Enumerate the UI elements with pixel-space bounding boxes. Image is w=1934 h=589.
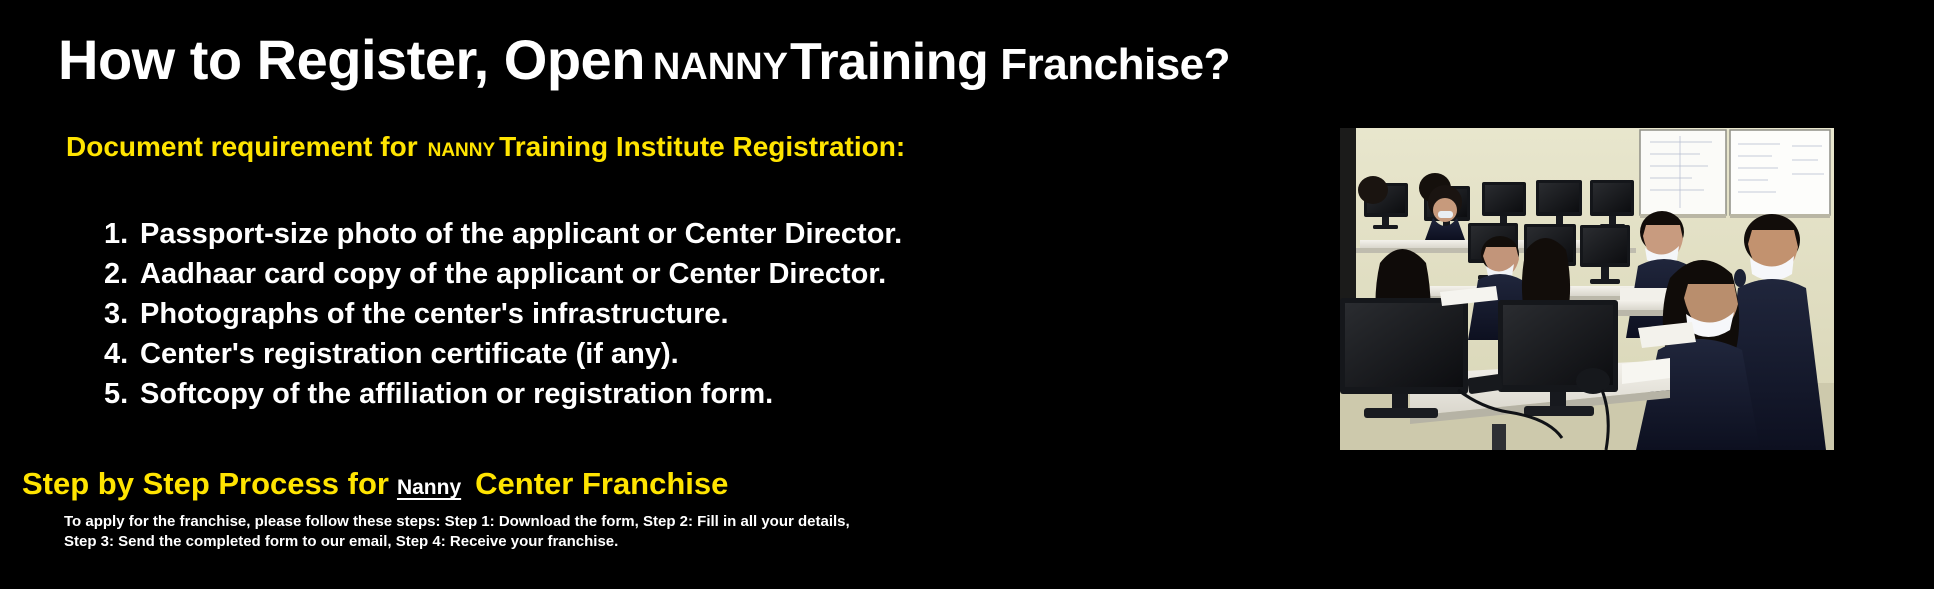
list-item-label: Photographs of the center's infrastructu… — [140, 298, 729, 330]
step-process-paragraph: To apply for the franchise, please follo… — [64, 512, 854, 552]
list-item: 3.Photographs of the center's infrastruc… — [104, 294, 902, 334]
list-item: 1.Passport-size photo of the applicant o… — [104, 214, 902, 254]
step-heading-part2: Center Franchise — [467, 466, 728, 501]
list-item-label: Aadhaar card copy of the applicant or Ce… — [140, 258, 886, 290]
list-item: 2.Aadhaar card copy of the applicant or … — [104, 254, 902, 294]
step-heading-brand: Nanny — [389, 476, 467, 499]
title-part3: Franchise? — [988, 40, 1230, 89]
classroom-photo-illustration — [1340, 128, 1834, 450]
list-item-label: Center's registration certificate (if an… — [140, 338, 679, 370]
list-item-number: 4. — [104, 334, 140, 374]
document-requirements-list: 1.Passport-size photo of the applicant o… — [104, 214, 902, 414]
list-item-label: Passport-size photo of the applicant or … — [140, 218, 902, 250]
list-item: 4.Center's registration certificate (if … — [104, 334, 902, 374]
list-item-number: 5. — [104, 374, 140, 414]
subhead-part1: Document requirement for — [66, 131, 418, 162]
title-part1: How to Register, Open — [58, 28, 645, 91]
step-process-heading: Step by Step Process forNannyCenter Fran… — [22, 466, 728, 502]
step-heading-part1: Step by Step Process for — [22, 466, 389, 501]
list-item-label: Softcopy of the affiliation or registrat… — [140, 378, 773, 410]
subhead-part2: Training Institute Registration: — [499, 131, 905, 162]
list-item-number: 3. — [104, 294, 140, 334]
title-brand: NANNY — [645, 46, 790, 88]
slide-root: How to Register, OpenNANNYTrainingFranch… — [0, 0, 1934, 589]
subhead-brand: NANNY — [418, 140, 500, 161]
subhead: Document requirement forNANNYTraining In… — [66, 131, 905, 163]
title-part2: Training — [790, 33, 988, 91]
page-title: How to Register, OpenNANNYTrainingFranch… — [58, 32, 1230, 88]
classroom-photo — [1340, 128, 1834, 450]
list-item-number: 2. — [104, 254, 140, 294]
list-item: 5.Softcopy of the affiliation or registr… — [104, 374, 902, 414]
list-item-number: 1. — [104, 214, 140, 254]
